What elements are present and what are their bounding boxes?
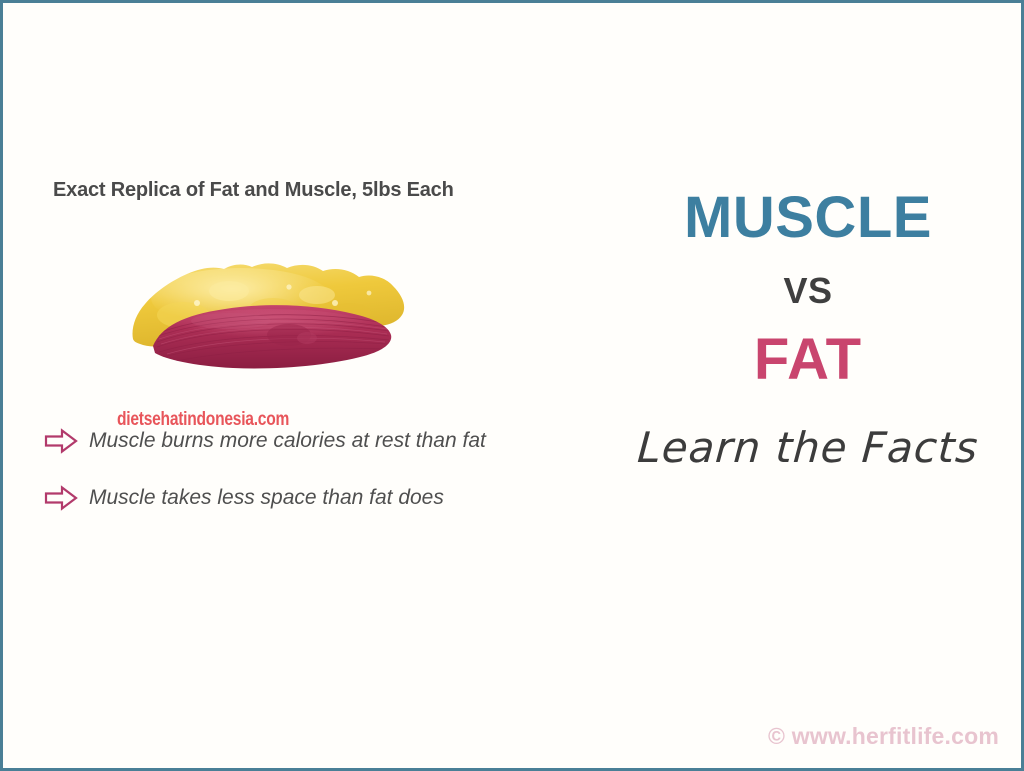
list-item-label: Muscle takes less space than fat does	[89, 486, 444, 510]
watermark-herfitlife: © www.herfitlife.com	[768, 723, 999, 750]
headline-block: MUSCLE VS FAT Learn the Facts	[603, 189, 1013, 472]
headline-fat: FAT	[603, 331, 1013, 389]
fat-and-muscle-photo	[121, 243, 411, 398]
list-item-label: Muscle burns more calories at rest than …	[89, 429, 486, 453]
headline-vs: VS	[603, 273, 1013, 309]
replica-title: Exact Replica of Fat and Muscle, 5lbs Ea…	[53, 179, 454, 202]
right-arrow-icon	[43, 427, 79, 455]
list-item: Muscle burns more calories at rest than …	[43, 427, 486, 455]
right-arrow-icon	[43, 484, 79, 512]
headline-muscle: MUSCLE	[603, 189, 1013, 247]
infographic-slide: Exact Replica of Fat and Muscle, 5lbs Ea…	[0, 0, 1024, 771]
tagline: Learn the Facts	[601, 423, 1014, 472]
list-item: Muscle takes less space than fat does	[43, 484, 444, 512]
